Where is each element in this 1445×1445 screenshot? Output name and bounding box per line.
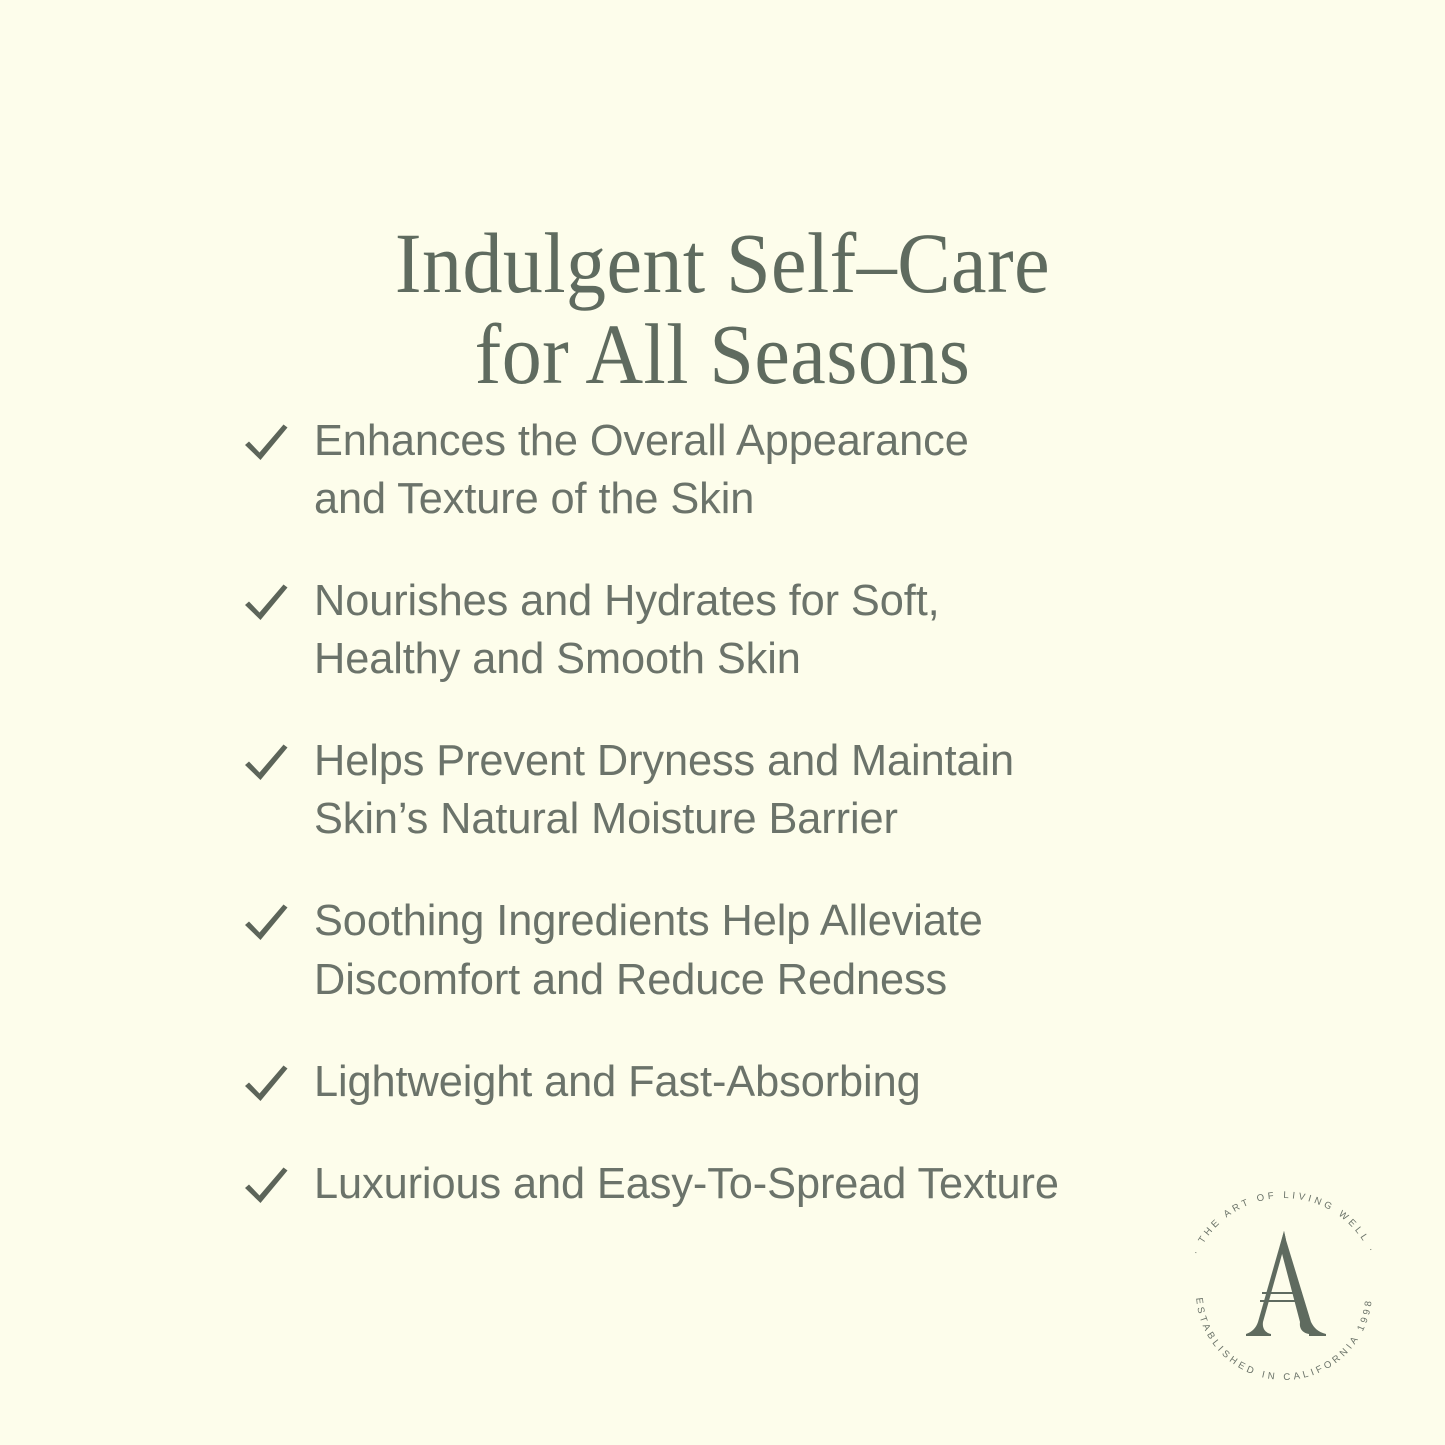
check-icon: [240, 578, 314, 634]
list-item: Luxurious and Easy-To-Spread Texture: [240, 1155, 1220, 1213]
benefits-list: Enhances the Overall Appearance and Text…: [240, 412, 1220, 1213]
list-item-label: Lightweight and Fast-Absorbing: [314, 1053, 1206, 1111]
check-icon: [240, 898, 314, 954]
page-title-line-1: Indulgent Self–Care: [51, 218, 1395, 309]
list-item-label: Luxurious and Easy-To-Spread Texture: [314, 1155, 1206, 1213]
list-item: Soothing Ingredients Help Alleviate Disc…: [240, 892, 1220, 1008]
list-item-label: Helps Prevent Dryness and Maintain Skin’…: [314, 732, 1206, 848]
logo-ring-text-bottom-path: ESTABLISHED IN CALIFORNIA 1998: [1193, 1297, 1375, 1383]
list-item-label: Nourishes and Hydrates for Soft, Healthy…: [314, 572, 1206, 688]
poster-canvas: Indulgent Self–Care for All Seasons Enha…: [0, 0, 1445, 1445]
page-title: Indulgent Self–Care for All Seasons: [51, 218, 1395, 400]
logo-ring-text-bottom: ESTABLISHED IN CALIFORNIA 1998: [1193, 1297, 1375, 1383]
page-title-line-2: for All Seasons: [51, 309, 1395, 400]
check-icon: [240, 738, 314, 794]
logo-monogram-a: [1246, 1231, 1326, 1336]
check-icon: [240, 1161, 314, 1217]
list-item: Enhances the Overall Appearance and Text…: [240, 412, 1220, 528]
list-item: Nourishes and Hydrates for Soft, Healthy…: [240, 572, 1220, 688]
list-item-label: Soothing Ingredients Help Alleviate Disc…: [314, 892, 1206, 1008]
list-item-label: Enhances the Overall Appearance and Text…: [314, 412, 1206, 528]
list-item: Helps Prevent Dryness and Maintain Skin’…: [240, 732, 1220, 848]
brand-logo-badge: · THE ART OF LIVING WELL · ESTABLISHED I…: [1168, 1176, 1400, 1408]
check-icon: [240, 1059, 314, 1115]
list-item: Lightweight and Fast-Absorbing: [240, 1053, 1220, 1111]
check-icon: [240, 418, 314, 474]
